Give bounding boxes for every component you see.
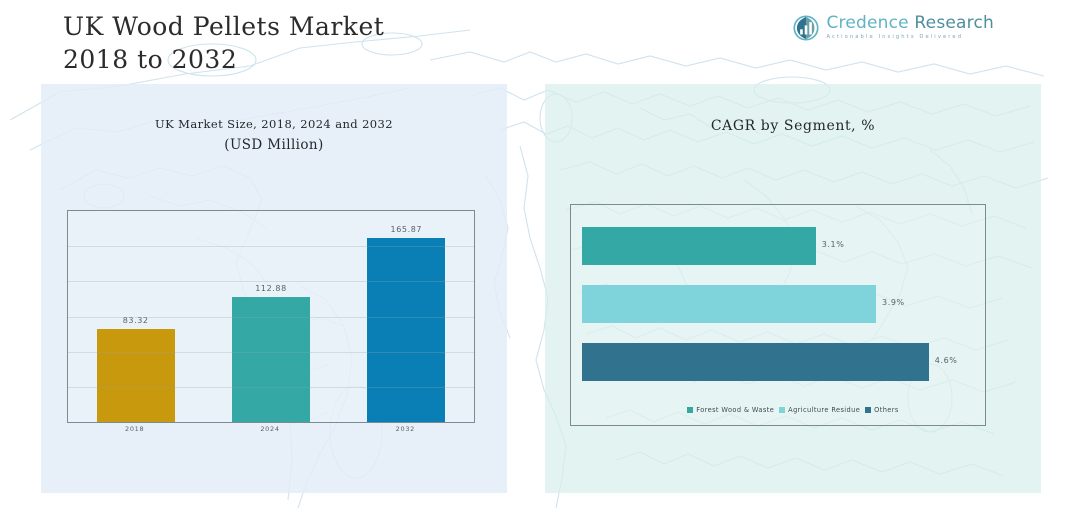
market-size-bar[interactable]: 112.88: [232, 297, 310, 422]
logo-tagline: Actionable Insights Delivered: [826, 35, 994, 40]
legend-swatch: [687, 407, 693, 413]
gridline: [68, 281, 474, 282]
logo-name-research: Research: [909, 13, 994, 33]
market-size-plot-area: 83.32112.88165.87: [67, 210, 475, 423]
bar-rect: [367, 238, 445, 422]
bar-value-label: 112.88: [211, 284, 331, 293]
bar-rect: [232, 297, 310, 422]
bar-value-label: 83.32: [76, 316, 196, 325]
cagr-bar[interactable]: [582, 343, 929, 381]
bar-chart-circle-logo-icon: [793, 15, 819, 41]
market-size-bar[interactable]: 165.87: [367, 238, 445, 422]
x-axis-tick-label: 2024: [210, 425, 330, 433]
market-size-title-line1: UK Market Size, 2018, 2024 and 2032: [155, 117, 393, 131]
legend-swatch: [865, 407, 871, 413]
market-size-panel: UK Market Size, 2018, 2024 and 2032 (USD…: [41, 84, 507, 493]
legend-swatch: [779, 407, 785, 413]
legend-label: Others: [874, 406, 899, 414]
bar-value-label: 165.87: [346, 225, 466, 234]
legend-item[interactable]: Forest Wood & Waste: [687, 406, 774, 414]
gridline: [68, 352, 474, 353]
brand-logo: Credence Research Actionable Insights De…: [793, 15, 994, 41]
legend-label: Forest Wood & Waste: [696, 406, 774, 414]
gridline: [68, 246, 474, 247]
cagr-value-label: 4.6%: [935, 356, 958, 365]
cagr-plot-area: 3.1%3.9%4.6%: [570, 204, 986, 426]
page-title: UK Wood Pellets Market 2018 to 2032: [63, 10, 384, 76]
market-size-x-axis: 201820242032: [67, 421, 473, 441]
market-size-bar[interactable]: 83.32: [97, 329, 175, 422]
legend-item[interactable]: Others: [865, 406, 899, 414]
cagr-chart-title: CAGR by Segment, %: [545, 118, 1041, 134]
market-size-title-line2: (USD Million): [224, 137, 323, 153]
gridline: [68, 387, 474, 388]
legend-item[interactable]: Agriculture Residue: [779, 406, 860, 414]
cagr-bar[interactable]: [582, 227, 816, 265]
cagr-value-label: 3.1%: [822, 240, 845, 249]
cagr-bar[interactable]: [582, 285, 876, 323]
bar-rect: [97, 329, 175, 422]
cagr-panel: CAGR by Segment, % 3.1%3.9%4.6% Forest W…: [545, 84, 1041, 493]
x-axis-tick-label: 2032: [345, 425, 465, 433]
legend-label: Agriculture Residue: [788, 406, 860, 414]
logo-wordmark: Credence Research: [826, 15, 994, 32]
logo-name-credence: Credence: [826, 13, 908, 33]
x-axis-tick-label: 2018: [75, 425, 195, 433]
market-size-chart-title: UK Market Size, 2018, 2024 and 2032 (USD…: [41, 114, 507, 156]
gridline: [68, 317, 474, 318]
cagr-legend: Forest Wood & WasteAgriculture ResidueOt…: [545, 406, 1041, 414]
cagr-value-label: 3.9%: [882, 298, 905, 307]
